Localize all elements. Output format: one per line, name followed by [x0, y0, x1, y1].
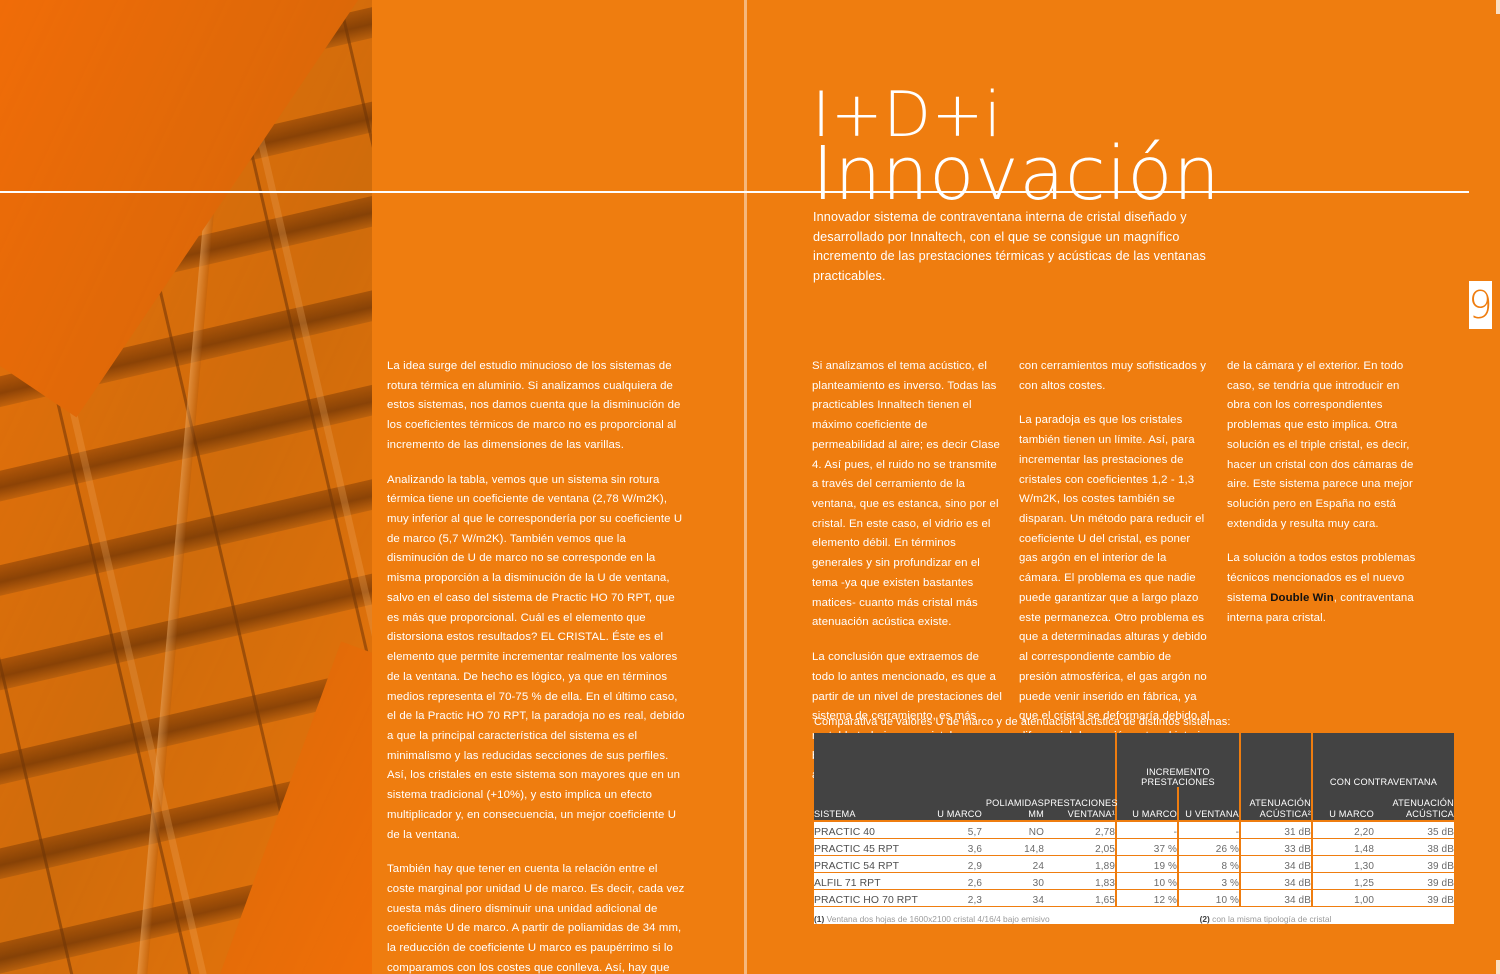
cell-cv-atenuacion: 39 dB: [1374, 855, 1454, 872]
footnote-row: (1) Ventana dos hojas de 1600x2100 crist…: [814, 906, 1454, 924]
table-row: PRACTIC 45 RPT 3,6 14,8 2,05 37 % 26 % 3…: [814, 838, 1454, 855]
col-header-inc-u-ventana: U VENTANA: [1178, 787, 1240, 821]
standfirst-text: Innovador sistema de contraventana inter…: [813, 208, 1233, 286]
magazine-spread: I+D+i Innovación Innovador sistema de co…: [0, 0, 1500, 974]
page-title: I+D+i Innovación: [812, 86, 1220, 209]
col-header-sistema: SISTEMA: [814, 787, 932, 821]
cell-inc-u-marco: 37 %: [1116, 838, 1178, 855]
cell-cv-atenuacion: 38 dB: [1374, 838, 1454, 855]
cell-inc-u-ventana: -: [1178, 821, 1240, 838]
col-header-inc-u-marco: U MARCO: [1116, 787, 1178, 821]
cell-u-marco: 2,6: [932, 872, 982, 889]
table-row: PRACTIC 40 5,7 NO 2,78 - - 31 dB 2,20 35…: [814, 821, 1454, 838]
col-header-prestaciones-ventana: PRESTACIONES VENTANA¹: [1044, 787, 1116, 821]
page-number: 9: [1468, 286, 1492, 324]
comparison-table: INCREMENTO PRESTACIONES CON CONTRAVENTAN…: [814, 733, 1454, 924]
header-rule: [0, 191, 1469, 193]
cell-poliamidas: NO: [982, 821, 1044, 838]
cell-u-marco: 2,9: [932, 855, 982, 872]
table-header: INCREMENTO PRESTACIONES CON CONTRAVENTAN…: [814, 733, 1454, 821]
photo-duotone-overlay: [0, 0, 372, 974]
group-header-empty: [814, 767, 1116, 787]
product-name-double-win: Double Win: [1270, 592, 1334, 604]
title-line-2: Innovación: [812, 139, 1220, 209]
table-row: PRACTIC 54 RPT 2,9 24 1,89 19 % 8 % 34 d…: [814, 855, 1454, 872]
building-facade-photo: [0, 0, 372, 974]
cell-poliamidas: 24: [982, 855, 1044, 872]
cell-inc-u-ventana: 3 %: [1178, 872, 1240, 889]
cell-cv-atenuacion: 39 dB: [1374, 889, 1454, 906]
cell-atenuacion: 34 dB: [1240, 889, 1312, 906]
cell-poliamidas: 14,8: [982, 838, 1044, 855]
cell-prestaciones: 2,05: [1044, 838, 1116, 855]
cell-cv-atenuacion: 39 dB: [1374, 872, 1454, 889]
cell-inc-u-marco: -: [1116, 821, 1178, 838]
page-number-tab: 9: [1469, 281, 1492, 329]
paragraph: Si analizamos el tema acústico, el plant…: [812, 357, 1002, 633]
paragraph: Analizando la tabla, vemos que un sistem…: [387, 471, 687, 846]
body-column-3: con cerramientos muy sofisticados y con …: [1019, 357, 1211, 762]
cell-inc-u-marco: 19 %: [1116, 855, 1178, 872]
paragraph: También hay que tener en cuenta la relac…: [387, 860, 687, 974]
group-header-empty-2: [1240, 767, 1312, 787]
crop-mark-top-right: [1496, 0, 1500, 14]
cell-u-marco: 3,6: [932, 838, 982, 855]
footnote-2-mark: (2): [1200, 914, 1210, 924]
paragraph: de la cámara y el exterior. En todo caso…: [1227, 357, 1423, 534]
col-header-atenuacion-acustica: ATENUACIÓN ACÚSTICA²: [1240, 787, 1312, 821]
cell-cv-u-marco: 1,25: [1312, 872, 1374, 889]
page-fold-line: [744, 0, 747, 974]
cell-cv-u-marco: 1,30: [1312, 855, 1374, 872]
paragraph: La paradoja es que los cristales también…: [1019, 411, 1211, 746]
header-spacer-row: [814, 733, 1454, 767]
cell-sistema: PRACTIC 54 RPT: [814, 855, 932, 872]
cell-u-marco: 2,3: [932, 889, 982, 906]
cell-atenuacion: 31 dB: [1240, 821, 1312, 838]
col-header-cv-u-marco: U MARCO: [1312, 787, 1374, 821]
col-header-poliamidas-mm: POLIAMIDAS MM: [982, 787, 1044, 821]
cell-sistema: PRACTIC HO 70 RPT: [814, 889, 932, 906]
crop-mark-bottom-right: [1496, 960, 1500, 974]
table-row: PRACTIC HO 70 RPT 2,3 34 1,65 12 % 10 % …: [814, 889, 1454, 906]
cell-inc-u-ventana: 8 %: [1178, 855, 1240, 872]
col-header-cv-atenuacion: ATENUACIÓN ACÚSTICA: [1374, 787, 1454, 821]
table-footnotes: (1) Ventana dos hojas de 1600x2100 crist…: [814, 906, 1454, 924]
cell-prestaciones: 1,65: [1044, 889, 1116, 906]
cell-inc-u-ventana: 10 %: [1178, 889, 1240, 906]
group-header-contraventana: CON CONTRAVENTANA: [1312, 767, 1454, 787]
col-header-u-marco: U MARCO: [932, 787, 982, 821]
footnote-1-mark: (1): [814, 914, 824, 924]
cell-cv-u-marco: 1,00: [1312, 889, 1374, 906]
cell-cv-u-marco: 2,20: [1312, 821, 1374, 838]
table-caption: Comparativa de valores U de marco y de a…: [814, 716, 1231, 728]
footnote-2-text: con la misma tipología de cristal: [1210, 914, 1332, 924]
footnote-1-text: Ventana dos hojas de 1600x2100 cristal 4…: [824, 914, 1049, 924]
body-column-1: La idea surge del estudio minucioso de l…: [387, 357, 687, 974]
cell-atenuacion: 34 dB: [1240, 872, 1312, 889]
cell-poliamidas: 30: [982, 872, 1044, 889]
cell-poliamidas: 34: [982, 889, 1044, 906]
cell-atenuacion: 34 dB: [1240, 855, 1312, 872]
cell-u-marco: 5,7: [932, 821, 982, 838]
paragraph: La idea surge del estudio minucioso de l…: [387, 357, 687, 456]
group-header-row: INCREMENTO PRESTACIONES CON CONTRAVENTAN…: [814, 767, 1454, 787]
cell-inc-u-ventana: 26 %: [1178, 838, 1240, 855]
paragraph: con cerramientos muy sofisticados y con …: [1019, 357, 1211, 396]
paragraph-with-product-name: La solución a todos estos problemas técn…: [1227, 549, 1423, 628]
table-body: PRACTIC 40 5,7 NO 2,78 - - 31 dB 2,20 35…: [814, 821, 1454, 906]
group-header-incremento: INCREMENTO PRESTACIONES: [1116, 767, 1240, 787]
table-row: ALFIL 71 RPT 2,6 30 1,83 10 % 3 % 34 dB …: [814, 872, 1454, 889]
cell-prestaciones: 2,78: [1044, 821, 1116, 838]
cell-sistema: ALFIL 71 RPT: [814, 872, 932, 889]
cell-cv-atenuacion: 35 dB: [1374, 821, 1454, 838]
cell-inc-u-marco: 12 %: [1116, 889, 1178, 906]
cell-inc-u-marco: 10 %: [1116, 872, 1178, 889]
body-column-4: de la cámara y el exterior. En todo caso…: [1227, 357, 1423, 643]
cell-sistema: PRACTIC 40: [814, 821, 932, 838]
cell-atenuacion: 33 dB: [1240, 838, 1312, 855]
cell-cv-u-marco: 1,48: [1312, 838, 1374, 855]
sub-header-row: SISTEMA U MARCO POLIAMIDAS MM PRESTACION…: [814, 787, 1454, 821]
cell-sistema: PRACTIC 45 RPT: [814, 838, 932, 855]
cell-prestaciones: 1,83: [1044, 872, 1116, 889]
cell-prestaciones: 1,89: [1044, 855, 1116, 872]
